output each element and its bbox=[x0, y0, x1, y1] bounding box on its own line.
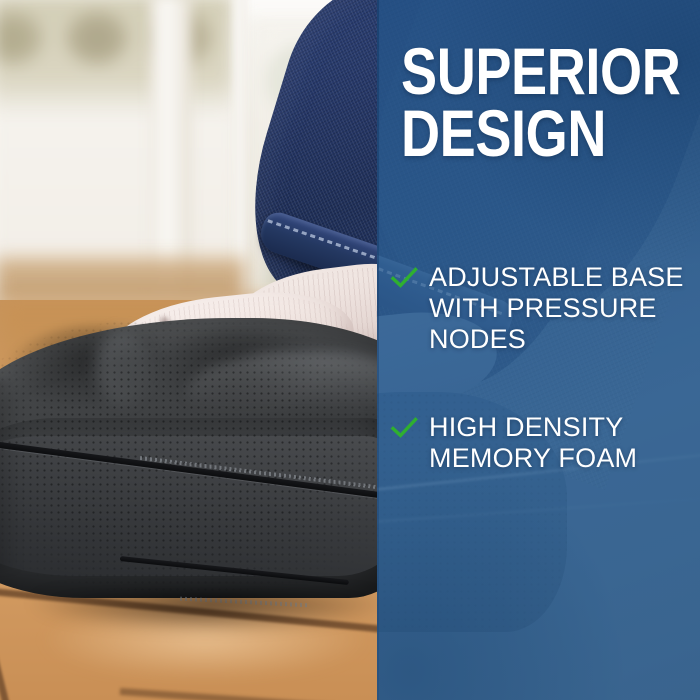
product-feature-banner: SUPERIOR DESIGN ADJUSTABLE BASE WITH PRE… bbox=[0, 0, 700, 700]
check-icon bbox=[389, 263, 419, 293]
feature-panel: SUPERIOR DESIGN ADJUSTABLE BASE WITH PRE… bbox=[377, 0, 700, 700]
check-icon bbox=[389, 413, 419, 443]
panel-content: SUPERIOR DESIGN ADJUSTABLE BASE WITH PRE… bbox=[377, 0, 700, 700]
headline-line-2: DESIGN bbox=[401, 102, 639, 164]
page-title: SUPERIOR DESIGN bbox=[401, 40, 639, 164]
feature-item-memory-foam: HIGH DENSITY MEMORY FOAM bbox=[389, 412, 689, 474]
feature-label: ADJUSTABLE BASE WITH PRESSURE NODES bbox=[429, 262, 689, 354]
cabinet-upper-shelf bbox=[0, 0, 232, 116]
feature-list: ADJUSTABLE BASE WITH PRESSURE NODES HIGH… bbox=[389, 262, 689, 532]
headline-line-1: SUPERIOR bbox=[401, 40, 639, 102]
foot-rest-floor-shadow bbox=[30, 592, 390, 632]
feature-label: HIGH DENSITY MEMORY FOAM bbox=[429, 412, 689, 474]
feature-item-adjustable-base: ADJUSTABLE BASE WITH PRESSURE NODES bbox=[389, 262, 689, 354]
foot-rest-left-edge-shadow bbox=[0, 380, 20, 570]
